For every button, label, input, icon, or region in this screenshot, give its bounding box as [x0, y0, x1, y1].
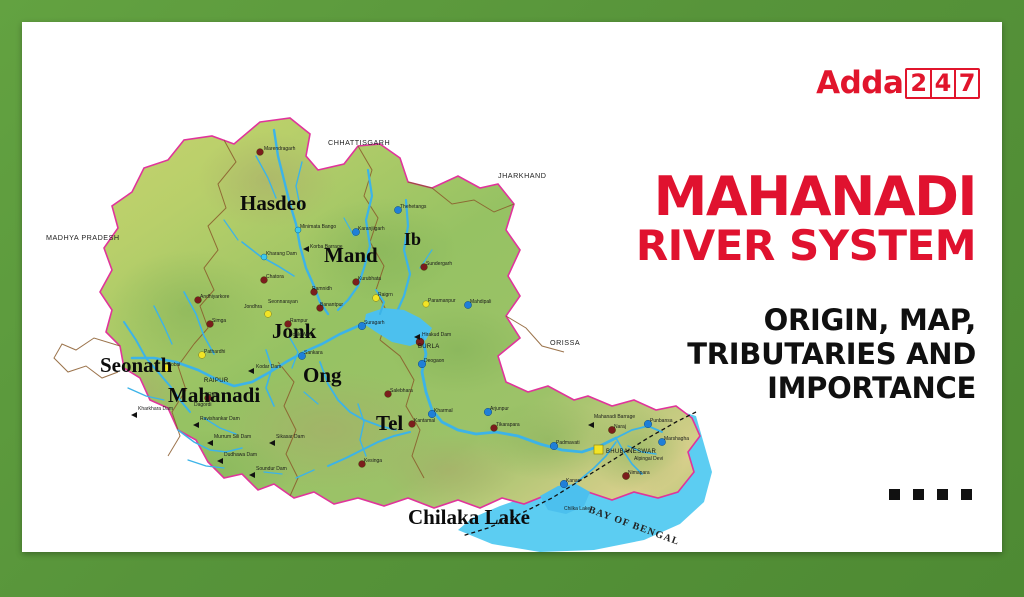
- town-label: Karanjiigarh: [358, 226, 385, 232]
- page-subtitle: RIVER SYSTEM: [556, 225, 976, 267]
- town-label: Minimata Bango: [300, 224, 336, 230]
- dot-square: [913, 489, 924, 500]
- river-label-ib: Ib: [404, 229, 421, 249]
- river-label-seonath: Seonath: [100, 353, 173, 377]
- river-label-hasdeo: Hasdeo: [240, 191, 307, 215]
- logo-digit-7: 7: [956, 70, 978, 97]
- town-label: Punbansa: [650, 418, 673, 424]
- town-label: Tikarapara: [496, 422, 520, 428]
- town-label: Kharang Dam: [266, 251, 297, 257]
- town-label: Hirakud Dam: [422, 332, 451, 338]
- town-label: Chatora: [266, 274, 284, 280]
- town-label: Raigrn: [378, 292, 393, 298]
- state-label: CHHATTISGARH: [328, 138, 390, 147]
- topic-line-2: TRIBUTARIES AND: [556, 337, 976, 371]
- town-label: Kantamal: [414, 418, 435, 424]
- town-label: Mahdipali: [470, 299, 491, 305]
- town-label: Dudhawa Dam: [224, 452, 257, 458]
- town-label: Murrum Sili Dam: [214, 434, 251, 440]
- town-label: Fobsi: [168, 362, 180, 368]
- decorative-dots: [889, 489, 972, 500]
- town-label: RAIPUR: [204, 378, 229, 384]
- town-label: Padmavati: [556, 440, 580, 446]
- town-label: Suragarh: [364, 320, 385, 326]
- town-label-bhubaneswar: BHUBANESWAR: [606, 449, 656, 455]
- town-label: Seonnarayan: [268, 299, 298, 305]
- town-label: Ravishankar Dam: [200, 416, 240, 422]
- town-label: Dagordi: [194, 402, 212, 408]
- town-label: Andhiyarkore: [200, 294, 230, 300]
- town-label: Marshagha: [664, 436, 689, 442]
- town-label: Kodar Dam: [256, 364, 281, 370]
- town-label: Rajin: [208, 392, 220, 398]
- town-label: Kurubhata: [358, 276, 381, 282]
- state-label: JHARKHAND: [498, 171, 546, 180]
- town-label: Jonk Weir: [290, 332, 312, 338]
- logo-digit-2: 2: [907, 70, 931, 97]
- logo-wordmark: Adda: [816, 68, 903, 99]
- town-label: Simga: [212, 318, 226, 324]
- town-label: BURLA: [418, 344, 440, 350]
- town-label: Sikasar Dam: [276, 434, 305, 440]
- topic-line-1: ORIGIN, MAP,: [556, 303, 976, 337]
- town-label: Mahanadi Barrage: [594, 414, 635, 420]
- river-label-ong: Ong: [303, 363, 342, 387]
- dot-square: [889, 489, 900, 500]
- adda247-logo[interactable]: Adda 2 4 7: [816, 68, 980, 99]
- town-label: Paramanpur: [428, 298, 456, 304]
- page-title: MAHANADI: [556, 172, 976, 223]
- headline-block: MAHANADI RIVER SYSTEM ORIGIN, MAP, TRIBU…: [556, 172, 976, 405]
- town-label: Kharmal: [434, 408, 453, 414]
- logo-247-badge: 2 4 7: [905, 68, 980, 99]
- town-label: Jondhra: [244, 304, 262, 310]
- town-label: Banantpur: [320, 302, 343, 308]
- river-label-tel: Tel: [376, 411, 403, 435]
- town-label: Kharkhara Dam: [138, 406, 173, 412]
- dot-square: [937, 489, 948, 500]
- dot-square: [961, 489, 972, 500]
- poster-frame: CHHATTISGARH JHARKHAND MADHYA PRADESH OR…: [0, 0, 1024, 597]
- town-label: Deogaon: [424, 358, 445, 364]
- poster-canvas: CHHATTISGARH JHARKHAND MADHYA PRADESH OR…: [22, 22, 1002, 552]
- town-label: Soundur Dam: [256, 466, 287, 472]
- town-label: Marendragarh: [264, 146, 296, 152]
- town-label: Alpingal Devi: [634, 456, 663, 462]
- town-label: Ramnidh: [312, 286, 332, 292]
- town-label: Arjunpur: [490, 406, 509, 412]
- town-label: Sankara: [304, 350, 323, 356]
- town-label: Thehetangs: [400, 204, 427, 210]
- town-label: Sundergarh: [426, 261, 452, 267]
- town-label: Kanas: [566, 478, 581, 484]
- town-label: Chilka Lake: [564, 506, 590, 512]
- town-label: Naraj: [614, 424, 626, 430]
- town-label: Salebhara: [390, 388, 413, 394]
- state-label: MADHYA PRADESH: [46, 233, 120, 242]
- town-label: Rampur: [290, 318, 308, 324]
- town-label: Nimapara: [628, 470, 650, 476]
- river-label-chilaka-lake: Chilaka Lake: [408, 505, 530, 529]
- topic-line-3: IMPORTANCE: [556, 371, 976, 405]
- topic-list: ORIGIN, MAP, TRIBUTARIES AND IMPORTANCE: [556, 303, 976, 406]
- town-label: Kesinga: [364, 458, 382, 464]
- town-label: Korba Barrage: [310, 244, 343, 250]
- logo-digit-4: 4: [932, 70, 956, 97]
- town-label: Pathardhi: [204, 349, 225, 355]
